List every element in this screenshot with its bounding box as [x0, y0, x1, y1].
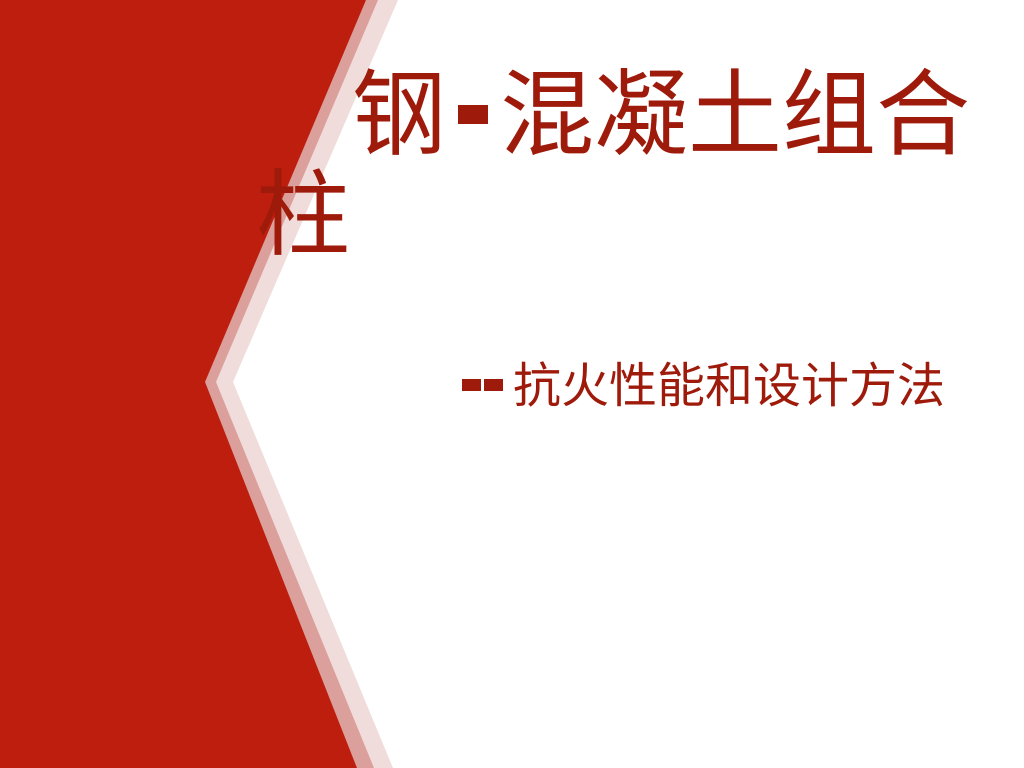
subtitle-text: 抗火性能和设计方法: [513, 358, 945, 414]
chevron-mid-stripe: [0, 0, 378, 768]
subtitle-dash-icon-1: [462, 379, 481, 391]
slide-canvas: 钢混凝土组合 柱 抗火性能和设计方法: [0, 0, 1024, 768]
subtitle-dash-icon-2: [484, 379, 503, 391]
title-dash-icon: [458, 105, 488, 124]
chevron-solid-field: [0, 0, 366, 768]
slide-title: 钢混凝土组合 柱: [352, 66, 962, 166]
title-word-steel: 钢: [352, 61, 446, 170]
title-line-2: 柱: [256, 166, 350, 266]
title-word-composite: 混凝土组合: [500, 61, 970, 170]
title-word-column: 柱: [256, 161, 350, 270]
slide-subtitle: 抗火性能和设计方法: [462, 358, 1002, 414]
chevron-light-stripe: [0, 0, 398, 768]
subtitle-line-1: 抗火性能和设计方法: [462, 358, 1002, 414]
title-line-1: 钢混凝土组合: [352, 66, 962, 166]
